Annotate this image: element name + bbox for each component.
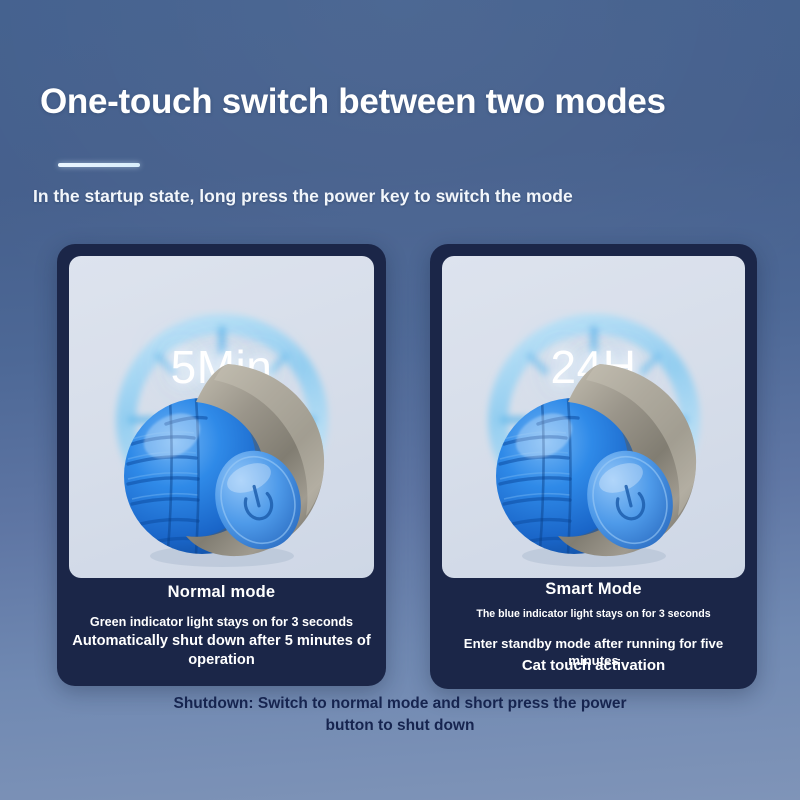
mode-card-smart[interactable]: 24H [430, 244, 757, 689]
infographic-root: One-touch switch between two modes In th… [0, 0, 800, 800]
mode-detail-line: The blue indicator light stays on for 3 … [430, 608, 757, 622]
mode-detail-line: Cat touch activation [430, 656, 757, 675]
mode-detail-line: Automatically shut down after 5 minutes … [57, 632, 386, 669]
product-device-smart [482, 348, 710, 570]
page-subtitle: In the startup state, long press the pow… [33, 186, 573, 207]
page-title: One-touch switch between two modes [40, 82, 666, 122]
title-accent-rule [58, 163, 140, 167]
product-device-normal [110, 348, 338, 570]
mode-card-normal[interactable]: 5Min [57, 244, 386, 686]
shutdown-note: Shutdown: Switch to normal mode and shor… [0, 693, 800, 736]
mode-title-normal: Normal mode [57, 583, 386, 602]
product-photo-smart: 24H [442, 256, 745, 578]
product-photo-normal: 5Min [69, 256, 374, 578]
mode-title-smart: Smart Mode [430, 580, 757, 599]
mode-detail-line: Green indicator light stays on for 3 sec… [57, 614, 386, 630]
